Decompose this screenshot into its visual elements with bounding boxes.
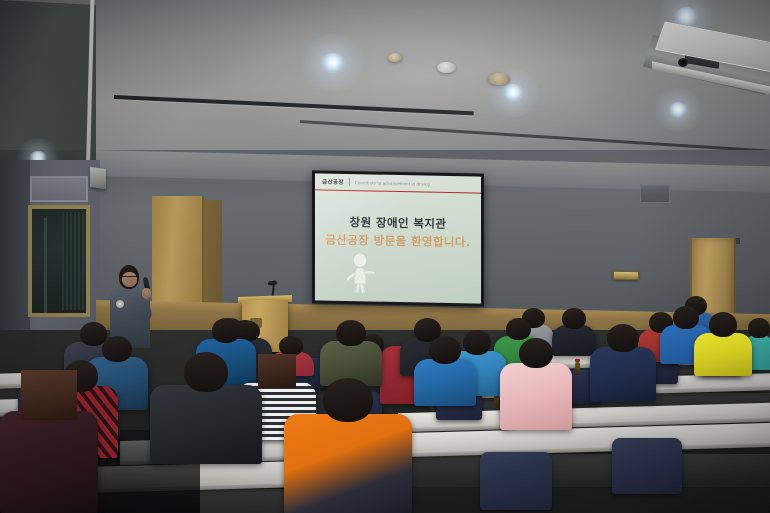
bottle-cap [575, 359, 580, 362]
ceiling-downlight-icon [668, 102, 688, 118]
attendee-head [21, 370, 77, 420]
attendee-orange-jacket [284, 378, 412, 513]
attendee-head [506, 318, 531, 340]
left-window-transom [30, 176, 88, 202]
bottle-2 [575, 362, 580, 375]
presenter-badge [116, 300, 124, 308]
attendee-head [336, 320, 366, 346]
left-window-blind [62, 212, 84, 310]
ceiling-detector-icon [437, 62, 456, 73]
attendee-torso [414, 359, 476, 406]
projection-screen: 금산공장 Contribute to advancement in drivin… [315, 173, 481, 303]
attendee-torso [500, 363, 572, 430]
attendee-torso [0, 411, 98, 513]
attendee-torso [284, 414, 412, 513]
ceiling-downlight-icon [502, 84, 524, 102]
attendee-head [323, 378, 373, 422]
attendee-head [184, 352, 228, 392]
wall-plaque [613, 271, 639, 280]
ceiling-detector-icon [488, 73, 510, 85]
slide-tagline-text: Contribute to advancement in driving [355, 180, 430, 186]
attendee-head [212, 318, 240, 343]
attendee-pink-hoodie [500, 338, 572, 430]
slide-header: 금산공장 Contribute to advancement in drivin… [315, 173, 481, 193]
attendee-head [562, 308, 586, 329]
attendee-green-khaki [320, 320, 382, 386]
wall-speaker-icon [90, 167, 106, 189]
chair-empty-front2[interactable] [612, 438, 682, 494]
slide-title-line1: 창원 장애인 복지관 [315, 213, 481, 232]
attendee-navy-hoodie [590, 324, 656, 402]
attendee-head [429, 336, 461, 364]
attendee-head [102, 336, 132, 362]
attendee-torso [694, 333, 752, 376]
presenter-hand [142, 288, 151, 299]
slide-divider [349, 178, 350, 186]
attendee-maroon-left [0, 370, 98, 513]
photo-scene: 금산공장 Contribute to advancement in drivin… [0, 0, 770, 513]
ceiling-detector-icon [388, 53, 402, 62]
slide-title-line2: 금산공장 방문을 환영합니다. [315, 231, 481, 250]
attendee-torso [150, 385, 262, 464]
attendee-yellow-jacket [694, 312, 752, 376]
slide-logo-text: 금산공장 [322, 178, 344, 186]
left-window-mullion [44, 218, 47, 313]
projector-lens-icon [678, 58, 688, 67]
chair-empty-front[interactable] [480, 452, 552, 510]
attendee-black-hoodie [150, 352, 262, 464]
attendee-head [519, 338, 553, 368]
attendee-head [709, 312, 737, 337]
mascot-figure-icon [339, 252, 383, 295]
attendee-torso [590, 347, 656, 402]
attendee-head [279, 336, 303, 356]
attendee-blue-center [414, 336, 476, 406]
presenter-glasses-icon [122, 276, 137, 280]
attendee-head [607, 324, 639, 352]
wall-vent-icon [640, 185, 670, 203]
